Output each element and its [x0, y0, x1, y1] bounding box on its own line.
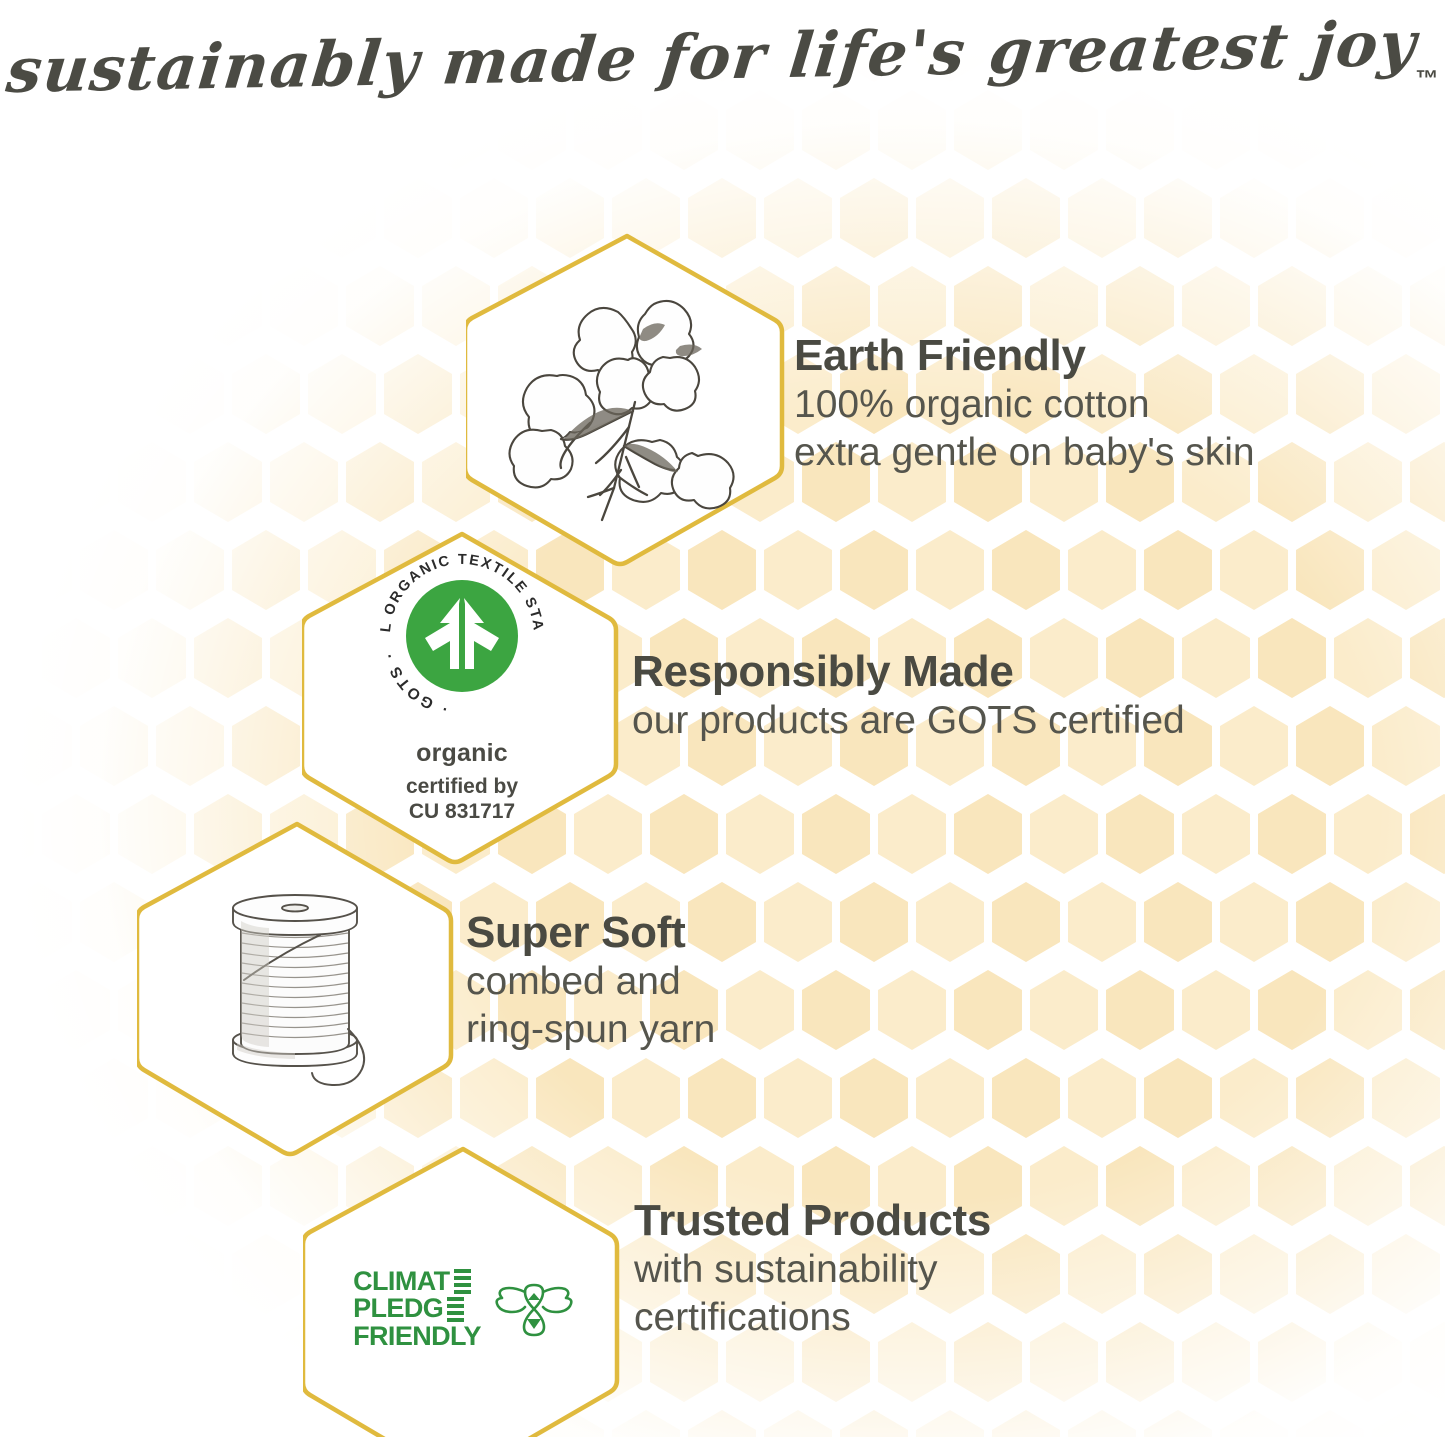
feature-title: Responsibly Made	[632, 647, 1185, 697]
cpf-line-2: PLEDG	[353, 1295, 443, 1323]
feature-card-super-soft	[137, 818, 457, 1158]
trademark-symbol: ™	[1415, 65, 1438, 92]
feature-card-trusted-products: CLIMAT PLEDG FRIENDLY	[303, 1143, 623, 1437]
feature-desc-line: certifications	[634, 1294, 991, 1342]
feature-text-trusted-products: Trusted Products with sustainability cer…	[634, 1196, 991, 1341]
cpf-line-1: CLIMAT	[353, 1268, 449, 1296]
feature-title: Super Soft	[466, 908, 715, 958]
cotton-branch-icon	[502, 274, 752, 524]
feature-text-earth-friendly: Earth Friendly 100% organic cotton extra…	[794, 331, 1255, 476]
feature-title: Earth Friendly	[794, 331, 1255, 381]
feature-desc-line: 100% organic cotton	[794, 381, 1255, 429]
feature-card-responsibly-made: GLOBAL ORGANIC TEXTILE STANDARD · GOTS ·…	[302, 528, 622, 866]
feature-text-super-soft: Super Soft combed and ring-spun yarn	[466, 908, 715, 1053]
climate-pledge-friendly-icon: CLIMAT PLEDG FRIENDLY	[353, 1268, 573, 1351]
cpf-bars-2	[447, 1297, 464, 1322]
feature-title: Trusted Products	[634, 1196, 991, 1246]
gots-certification-icon: GLOBAL ORGANIC TEXTILE STANDARD · GOTS ·…	[367, 541, 557, 825]
feature-card-earth-friendly	[466, 230, 788, 568]
feature-desc-line: extra gentle on baby's skin	[794, 429, 1255, 477]
cpf-bars-1	[454, 1269, 471, 1294]
gots-certified-by-label: certified by	[367, 775, 557, 800]
page-title: sustainably made for life's greatest joy…	[0, 34, 1445, 107]
feature-desc-line: our products are GOTS certified	[632, 697, 1185, 745]
feature-desc-line: with sustainability	[634, 1246, 991, 1294]
winged-hourglass-icon	[495, 1276, 573, 1342]
feature-desc-line: combed and	[466, 958, 715, 1006]
infographic-canvas: sustainably made for life's greatest joy…	[0, 0, 1445, 1437]
thread-spool-icon	[184, 877, 414, 1107]
cpf-line-3: FRIENDLY	[353, 1323, 481, 1351]
gots-organic-label: organic	[367, 739, 557, 768]
feature-text-responsibly-made: Responsibly Made our products are GOTS c…	[632, 647, 1185, 745]
feature-desc-line: ring-spun yarn	[466, 1006, 715, 1054]
